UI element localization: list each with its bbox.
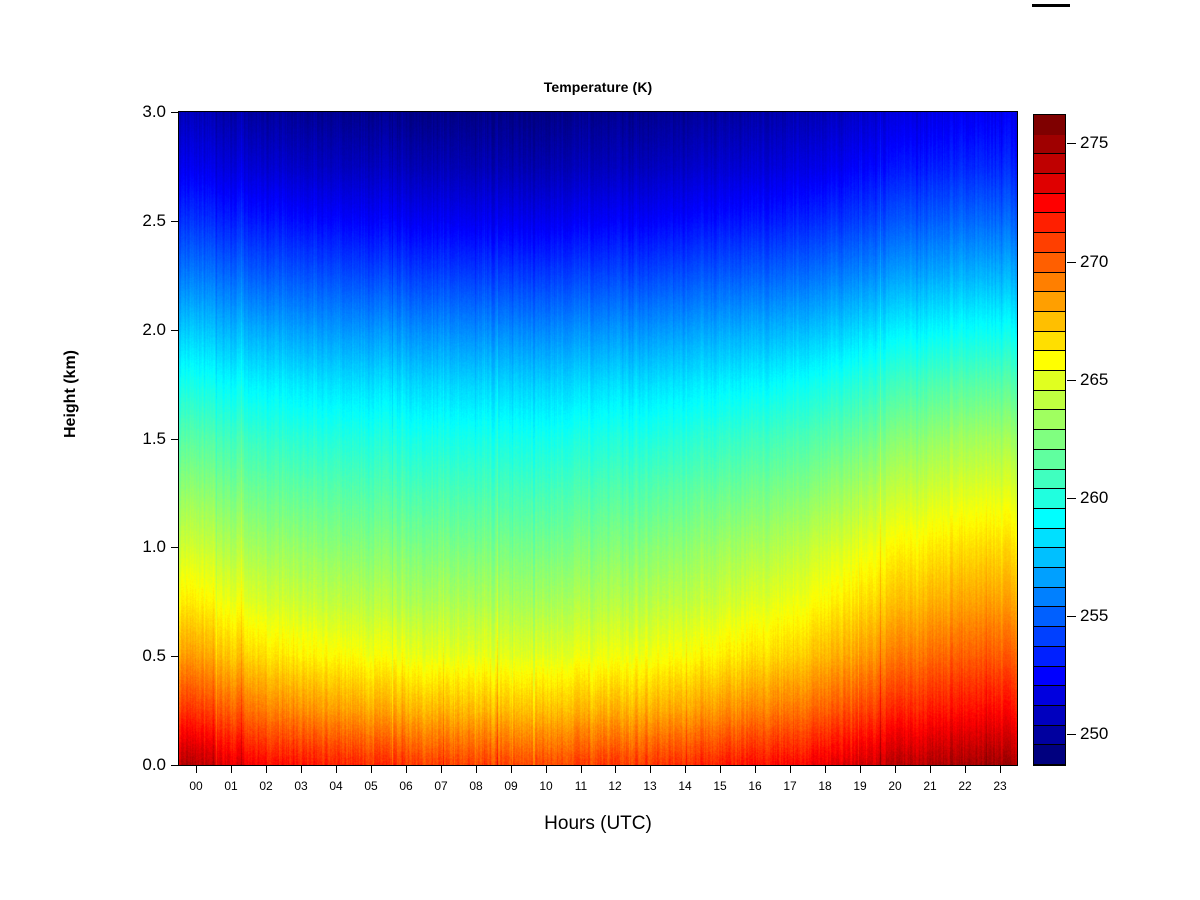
colorbar-tick-label: 275: [1080, 133, 1108, 153]
x-axis-tick-label: 00: [189, 779, 202, 793]
colorbar-cell: [1034, 627, 1065, 647]
x-axis-tick: [441, 766, 442, 773]
colorbar-cell: [1034, 233, 1065, 253]
x-axis-tick-label: 19: [853, 779, 866, 793]
y-axis-title: Height (km): [62, 350, 80, 438]
x-axis-tick-label: 08: [469, 779, 482, 793]
colorbar-tick-label: 255: [1080, 606, 1108, 626]
colorbar-cell: [1034, 568, 1065, 588]
y-axis-tick: [171, 765, 178, 766]
colorbar-tick: [1067, 734, 1076, 735]
colorbar-cell: [1034, 213, 1065, 233]
x-axis-tick-label: 13: [643, 779, 656, 793]
x-axis-tick-label: 01: [224, 779, 237, 793]
y-axis-tick: [171, 547, 178, 548]
y-axis-tick: [171, 330, 178, 331]
x-axis-tick: [546, 766, 547, 773]
colorbar-cell: [1034, 194, 1065, 214]
x-axis-tick: [511, 766, 512, 773]
colorbar-tick-label: 260: [1080, 488, 1108, 508]
x-axis-tick-label: 05: [364, 779, 377, 793]
x-axis-tick: [685, 766, 686, 773]
x-axis-tick: [1000, 766, 1001, 773]
colorbar-cell: [1034, 509, 1065, 529]
colorbar-cell: [1034, 351, 1065, 371]
colorbar-cell: [1034, 489, 1065, 509]
x-axis-tick: [336, 766, 337, 773]
x-axis-tick-label: 07: [434, 779, 447, 793]
y-axis-tick-label: 2.0: [142, 320, 166, 340]
x-axis-tick: [615, 766, 616, 773]
x-axis-tick-label: 03: [294, 779, 307, 793]
x-axis-tick-label: 11: [575, 779, 587, 793]
colorbar-cell: [1034, 115, 1065, 135]
x-axis-tick: [825, 766, 826, 773]
colorbar-cell: [1034, 647, 1065, 667]
heatmap-plot-area: [178, 111, 1018, 766]
x-axis-title: Hours (UTC): [178, 813, 1018, 835]
colorbar-cell: [1034, 607, 1065, 627]
colorbar-cell: [1034, 667, 1065, 687]
x-axis-tick: [860, 766, 861, 773]
colorbar-cell: [1034, 391, 1065, 411]
colorbar-cell: [1034, 410, 1065, 430]
y-axis-tick-label: 2.5: [142, 211, 166, 231]
colorbar-cell: [1034, 588, 1065, 608]
colorbar-cell: [1034, 745, 1065, 765]
colorbar-cell: [1034, 312, 1065, 332]
colorbar-tick: [1067, 143, 1076, 144]
colorbar-cell: [1034, 529, 1065, 549]
colorbar-cell: [1034, 253, 1065, 273]
x-axis-tick-label: 14: [678, 779, 691, 793]
colorbar-tick: [1067, 380, 1076, 381]
colorbar-tick-label: 250: [1080, 724, 1108, 744]
x-axis-tick-label: 06: [399, 779, 412, 793]
y-axis-tick-label: 1.0: [142, 537, 166, 557]
x-axis-tick-label: 21: [923, 779, 936, 793]
x-axis-tick: [476, 766, 477, 773]
y-axis-tick: [171, 221, 178, 222]
x-axis-tick-label: 23: [993, 779, 1006, 793]
x-axis-tick: [196, 766, 197, 773]
x-axis-tick-label: 04: [329, 779, 342, 793]
colorbar-cell: [1034, 706, 1065, 726]
colorbar-cell: [1034, 273, 1065, 293]
plot-title: Temperature (K): [178, 79, 1018, 95]
colorbar-cell: [1034, 292, 1065, 312]
y-axis-tick-label: 1.5: [142, 429, 166, 449]
colorbar-cell: [1034, 154, 1065, 174]
colorbar-tick-label: 265: [1080, 370, 1108, 390]
x-axis-tick-label: 10: [539, 779, 552, 793]
x-axis-tick: [406, 766, 407, 773]
x-axis-tick-label: 15: [713, 779, 726, 793]
x-axis-tick: [895, 766, 896, 773]
x-axis-tick-label: 22: [958, 779, 971, 793]
y-axis-tick: [171, 656, 178, 657]
x-axis-tick: [930, 766, 931, 773]
y-axis-tick-label: 3.0: [142, 102, 166, 122]
colorbar-cell: [1034, 470, 1065, 490]
x-axis-tick-label: 09: [504, 779, 517, 793]
x-axis-tick: [965, 766, 966, 773]
y-axis-tick-label: 0.0: [142, 755, 166, 775]
x-axis-tick: [301, 766, 302, 773]
y-axis-tick: [171, 439, 178, 440]
colorbar-cell: [1034, 332, 1065, 352]
x-axis-tick: [790, 766, 791, 773]
colorbar-cell: [1034, 371, 1065, 391]
colorbar-cell: [1034, 548, 1065, 568]
colorbar-tick: [1067, 498, 1076, 499]
colorbar-cell: [1034, 686, 1065, 706]
x-axis-tick-label: 12: [608, 779, 621, 793]
x-axis-tick: [650, 766, 651, 773]
temperature-heatmap: [179, 112, 1017, 765]
x-axis-tick: [371, 766, 372, 773]
top-edge-artifact: [1032, 4, 1070, 7]
colorbar-cell: [1034, 430, 1065, 450]
y-axis-tick-label: 0.5: [142, 646, 166, 666]
x-axis-tick: [720, 766, 721, 773]
x-axis-tick-label: 18: [818, 779, 831, 793]
colorbar-cell: [1034, 135, 1065, 155]
figure-canvas: Temperature (K) Height (km) Hours (UTC) …: [0, 0, 1200, 900]
colorbar-cell: [1034, 450, 1065, 470]
x-axis-tick: [581, 766, 582, 773]
x-axis-tick-label: 16: [748, 779, 761, 793]
x-axis-tick-label: 02: [259, 779, 272, 793]
colorbar-cell: [1034, 726, 1065, 746]
colorbar-tick: [1067, 616, 1076, 617]
x-axis-tick-label: 17: [783, 779, 796, 793]
x-axis-tick: [755, 766, 756, 773]
colorbar-tick-label: 270: [1080, 252, 1108, 272]
x-axis-tick: [266, 766, 267, 773]
x-axis-tick: [231, 766, 232, 773]
colorbar-tick: [1067, 262, 1076, 263]
x-axis-tick-label: 20: [888, 779, 901, 793]
colorbar-cell: [1034, 174, 1065, 194]
colorbar: [1033, 114, 1066, 766]
y-axis-tick: [171, 112, 178, 113]
